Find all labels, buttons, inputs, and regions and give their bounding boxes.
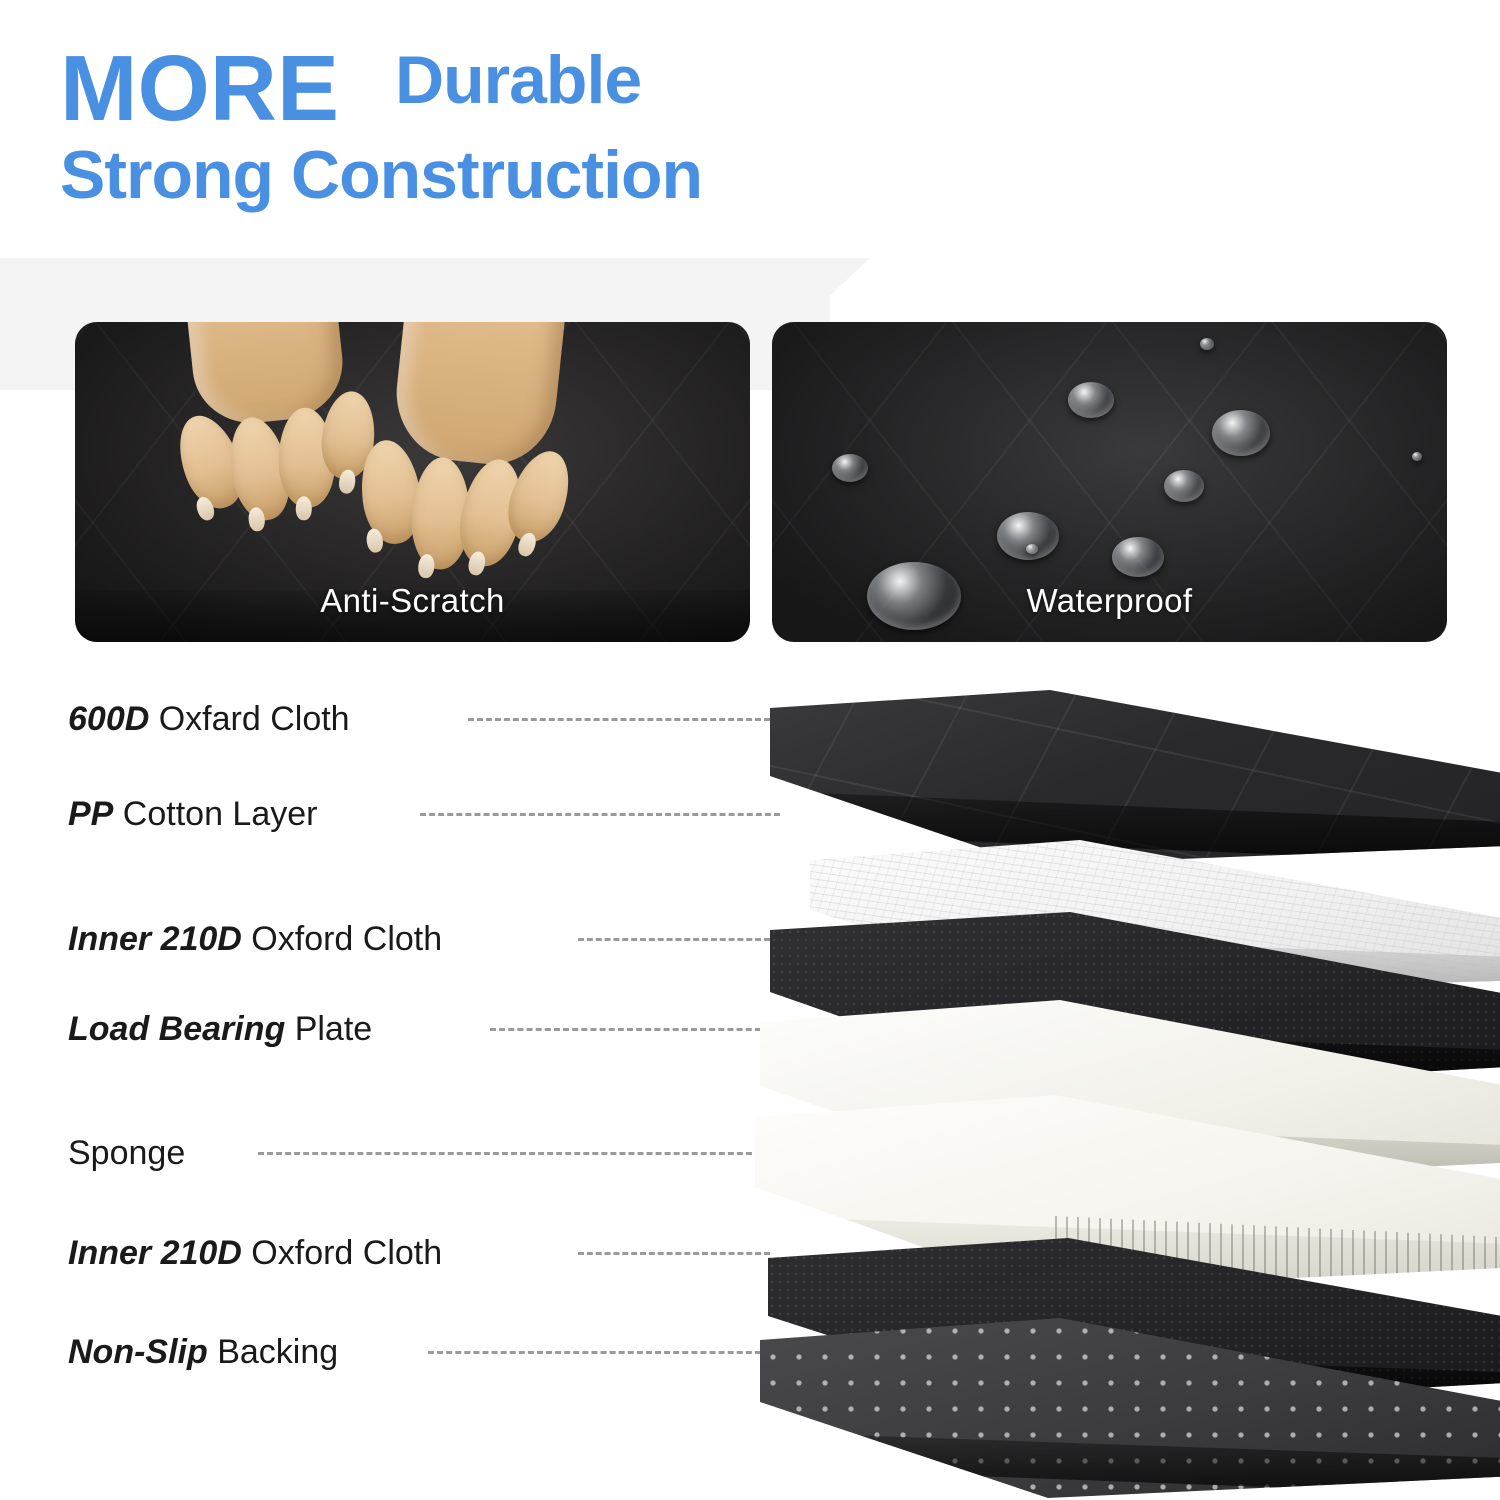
- page-title: MOREDurable Strong Construction: [60, 42, 1460, 209]
- dog-paw-left: [164, 322, 377, 551]
- water-droplet: [1200, 338, 1214, 350]
- water-droplet: [832, 454, 868, 482]
- title-line-2: Strong Construction: [60, 141, 1460, 209]
- title-durable-word: Durable: [395, 46, 641, 114]
- paw-leg: [390, 322, 573, 470]
- water-droplet: [1212, 410, 1270, 456]
- water-droplet: [1026, 544, 1038, 554]
- paw-claw: [417, 553, 435, 579]
- title-line-1: MOREDurable: [60, 42, 1460, 135]
- card-caption-waterproof: Waterproof: [772, 582, 1447, 620]
- feature-card-anti-scratch: Anti-Scratch: [75, 322, 750, 642]
- water-droplet: [1112, 537, 1164, 577]
- card-caption-anti-scratch: Anti-Scratch: [75, 582, 750, 620]
- dog-paw-right: [349, 342, 574, 612]
- water-droplet: [1068, 382, 1114, 418]
- header-band: MOREDurable Strong Construction: [0, 0, 1500, 258]
- water-droplet: [1164, 470, 1204, 502]
- paw-leg: [179, 322, 348, 429]
- title-more-word: MORE: [60, 42, 339, 135]
- layer-slab-600d-oxford-cloth: [770, 690, 1500, 865]
- water-droplet: [1412, 452, 1422, 461]
- paw-claw: [296, 496, 312, 520]
- feature-card-waterproof: Waterproof: [772, 322, 1447, 642]
